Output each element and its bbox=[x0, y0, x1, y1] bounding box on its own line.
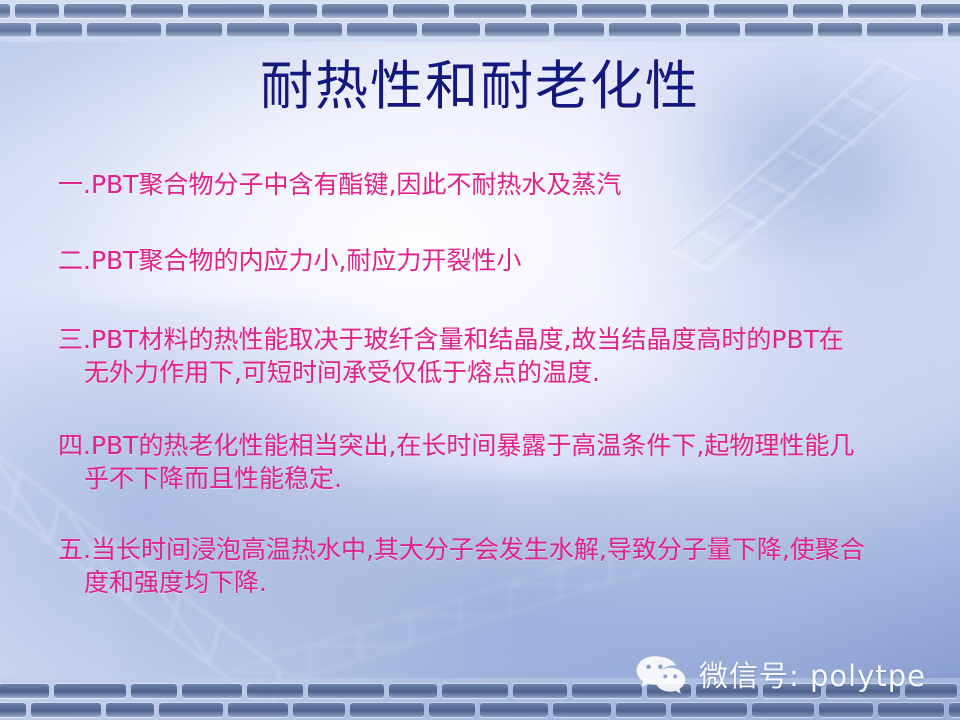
list-item: 一.PBT聚合物分子中含有酯键,因此不耐热水及蒸汽 bbox=[58, 168, 936, 201]
bottom-brick-border bbox=[0, 678, 960, 720]
brick-row bbox=[0, 684, 960, 698]
brick-mortar bbox=[0, 0, 960, 42]
brick-row bbox=[0, 4, 960, 18]
list-item-line: 度和强度均下降. bbox=[58, 566, 936, 599]
list-item: 四.PBT的热老化性能相当突出,在长时间暴露于高温条件下,起物理性能几 乎不下降… bbox=[58, 429, 936, 495]
brick-row bbox=[0, 703, 960, 717]
list-item-line: 一.PBT聚合物分子中含有酯键,因此不耐热水及蒸汽 bbox=[58, 168, 936, 201]
watermark: 微信号: polytpe bbox=[635, 654, 926, 698]
top-brick-border bbox=[0, 0, 960, 42]
list-item-line: 五.当长时间浸泡高温热水中,其大分子会发生水解,导致分子量下降,使聚合 bbox=[58, 533, 936, 566]
list-item-line: 无外力作用下,可短时间承受仅低于熔点的温度. bbox=[58, 356, 936, 389]
content-list: 一.PBT聚合物分子中含有酯键,因此不耐热水及蒸汽 二.PBT聚合物的内应力小,… bbox=[58, 168, 936, 599]
list-item: 五.当长时间浸泡高温热水中,其大分子会发生水解,导致分子量下降,使聚合 度和强度… bbox=[58, 533, 936, 599]
list-item-line: 三.PBT材料的热性能取决于玻纤含量和结晶度,故当结晶度高时的PBT在 bbox=[58, 323, 936, 356]
list-item-line: 乎不下降而且性能稳定. bbox=[58, 462, 936, 495]
page-title: 耐热性和耐老化性 bbox=[0, 56, 960, 118]
watermark-text: 微信号: polytpe bbox=[699, 659, 926, 693]
brick-row bbox=[0, 23, 960, 37]
list-item-line: 四.PBT的热老化性能相当突出,在长时间暴露于高温条件下,起物理性能几 bbox=[58, 429, 936, 462]
list-item: 三.PBT材料的热性能取决于玻纤含量和结晶度,故当结晶度高时的PBT在 无外力作… bbox=[58, 323, 936, 389]
brick-mortar bbox=[0, 678, 960, 720]
slide: 耐热性和耐老化性 一.PBT聚合物分子中含有酯键,因此不耐热水及蒸汽 二.PBT… bbox=[0, 0, 960, 720]
list-item-line: 二.PBT聚合物的内应力小,耐应力开裂性小 bbox=[58, 244, 936, 277]
wechat-icon bbox=[635, 654, 687, 698]
list-item: 二.PBT聚合物的内应力小,耐应力开裂性小 bbox=[58, 244, 936, 277]
